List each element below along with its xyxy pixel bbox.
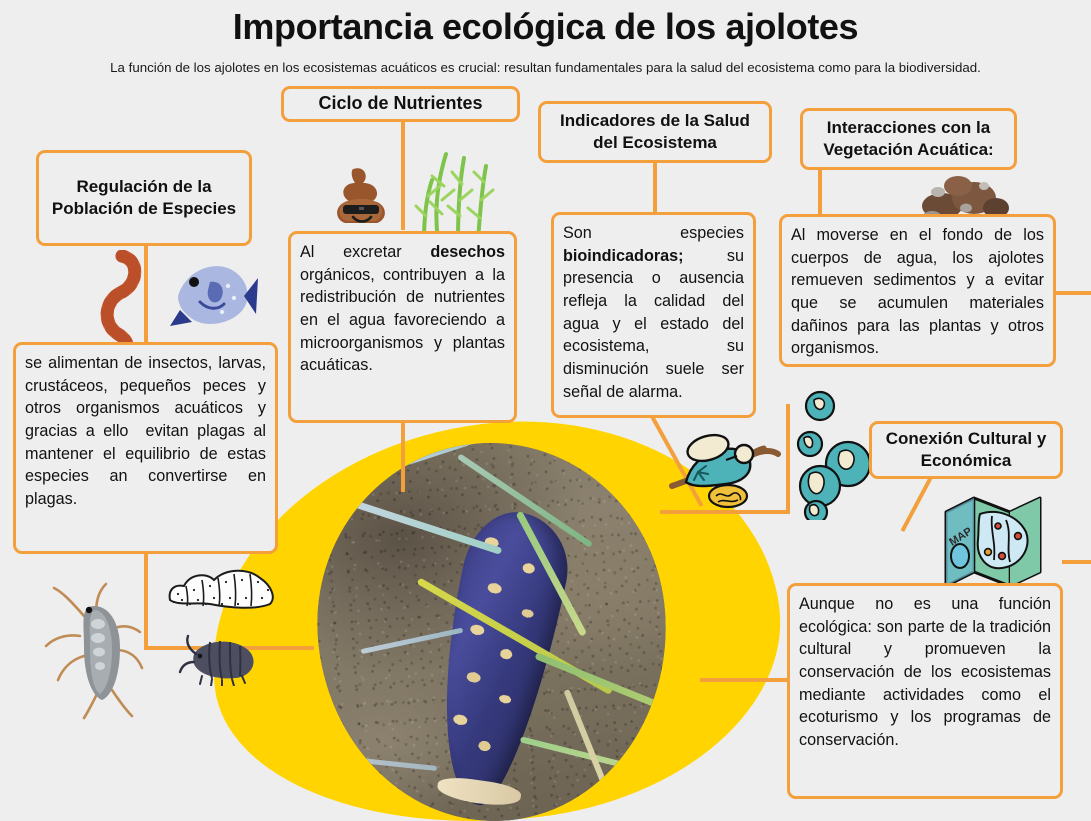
aquatic-plant-illustration [408, 140, 504, 240]
heading-box-conexion[interactable]: Conexión Cultural y Económica [869, 421, 1063, 479]
connector-interacciones-right [1055, 291, 1091, 295]
heading-text-ciclo-nutrientes: Ciclo de Nutrientes [318, 92, 482, 115]
heading-box-vegetacion[interactable]: Interacciones con la Vegetación Acuática… [800, 108, 1017, 170]
folded-map-illustration: MAP [940, 490, 1050, 594]
connector-indicadores [653, 160, 657, 218]
heading-box-indicadores[interactable]: Indicadores de la Salud del Ecosistema [538, 101, 772, 163]
heading-box-ciclo-nutrientes[interactable]: Ciclo de Nutrientes [281, 86, 520, 122]
body-box-indicadores[interactable]: Son especies bioindicadoras; su presenci… [551, 212, 756, 418]
heading-box-regulacion[interactable]: Regulación de la Población de Especies [36, 150, 252, 246]
body-box-ciclo-nutrientes[interactable]: Al excretar desechos orgánicos, contribu… [288, 231, 517, 423]
connector-interacciones [818, 167, 822, 216]
axolotl-photo [305, 431, 679, 821]
connector-conexion [901, 470, 936, 532]
body-box-regulacion[interactable]: se alimentan de insectos, larvas, crustá… [13, 342, 278, 554]
poop-emoji-illustration [325, 163, 399, 237]
page-subtitle: La función de los ajolotes en los ecosis… [0, 60, 1091, 75]
connector-center-to-conexion [700, 678, 792, 682]
heading-text-indicadores: Indicadores de la Salud del Ecosistema [549, 110, 761, 154]
pillbug-illustration [178, 632, 262, 686]
heading-text-regulacion: Regulación de la Población de Especies [47, 176, 241, 220]
body-box-conexion[interactable]: Aunque no es una función ecológica: son … [787, 583, 1063, 799]
connector-ciclo-to-center [401, 422, 405, 492]
connector-right-column-h [660, 510, 790, 514]
connector-ciclo [401, 118, 405, 230]
page-title: Importancia ecológica de los ajolotes [0, 6, 1091, 48]
heading-text-vegetacion: Interacciones con la Vegetación Acuática… [811, 117, 1006, 161]
silverfish-illustration [40, 580, 168, 720]
body-box-vegetacion[interactable]: Al moverse en el fondo de los cuerpos de… [779, 214, 1056, 367]
caterpillar-lineart-illustration [160, 560, 282, 612]
infographic-canvas: Importancia ecológica de los ajolotes La… [0, 0, 1091, 821]
fish-illustration [166, 252, 258, 338]
connector-conexion-right [1062, 560, 1091, 564]
bird-on-branch-illustration [668, 420, 792, 510]
heading-text-conexion: Conexión Cultural y Económica [880, 428, 1052, 472]
